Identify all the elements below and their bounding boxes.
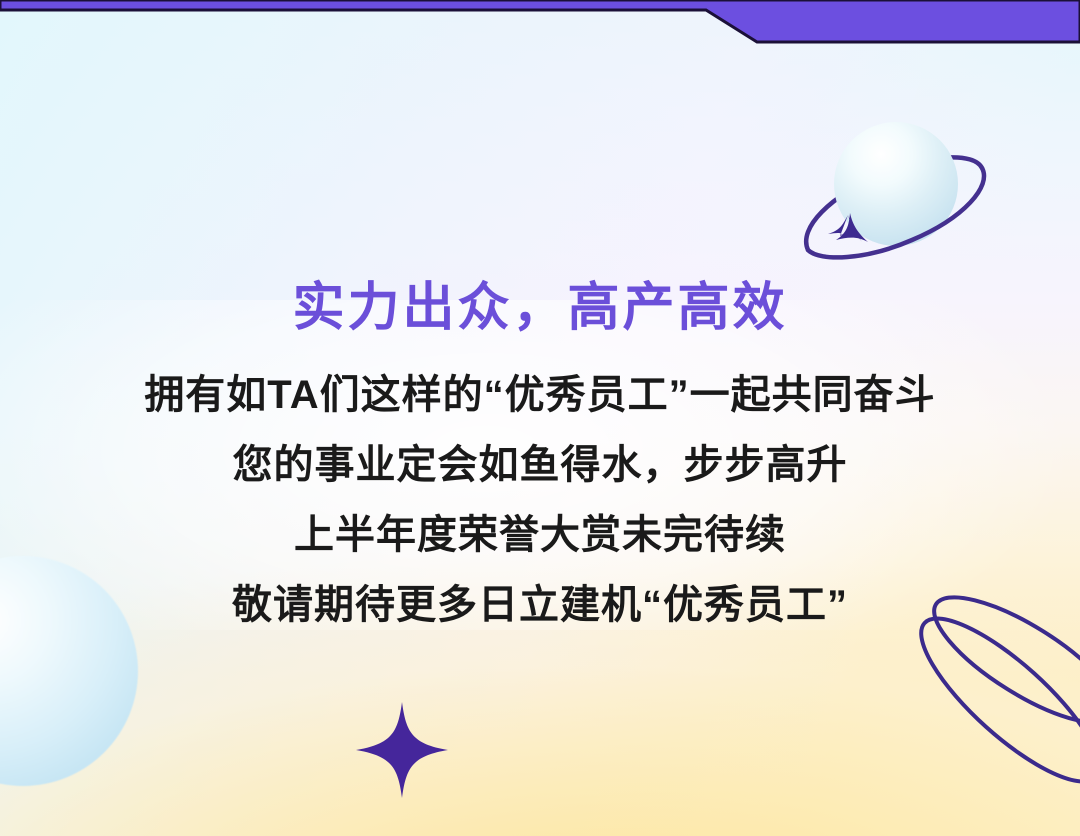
planet-svg [778,100,1008,290]
four-point-sparkle [352,700,452,800]
body-text-block: 拥有如TA们这样的“优秀员工”一起共同奋斗 您的事业定会如鱼得水，步步高升 上半… [0,360,1080,640]
banner-polygon [0,0,1080,42]
sparkle-svg [352,700,452,800]
body-line-4: 敬请期待更多日立建机“优秀员工” [0,570,1080,640]
planet-decoration [778,100,1008,290]
body-line-3: 上半年度荣誉大赏未完待续 [0,500,1080,570]
headline: 实力出众，高产高效 [0,278,1080,338]
sparkle-shape [356,702,448,798]
text-content: 实力出众，高产高效 拥有如TA们这样的“优秀员工”一起共同奋斗 您的事业定会如鱼… [0,278,1080,640]
body-line-1: 拥有如TA们这样的“优秀员工”一起共同奋斗 [0,360,1080,430]
poster-canvas: 实力出众，高产高效 拥有如TA们这样的“优秀员工”一起共同奋斗 您的事业定会如鱼… [0,0,1080,836]
body-line-2: 您的事业定会如鱼得水，步步高升 [0,430,1080,500]
top-banner-shape [0,0,1080,50]
top-purple-banner [0,0,1080,50]
